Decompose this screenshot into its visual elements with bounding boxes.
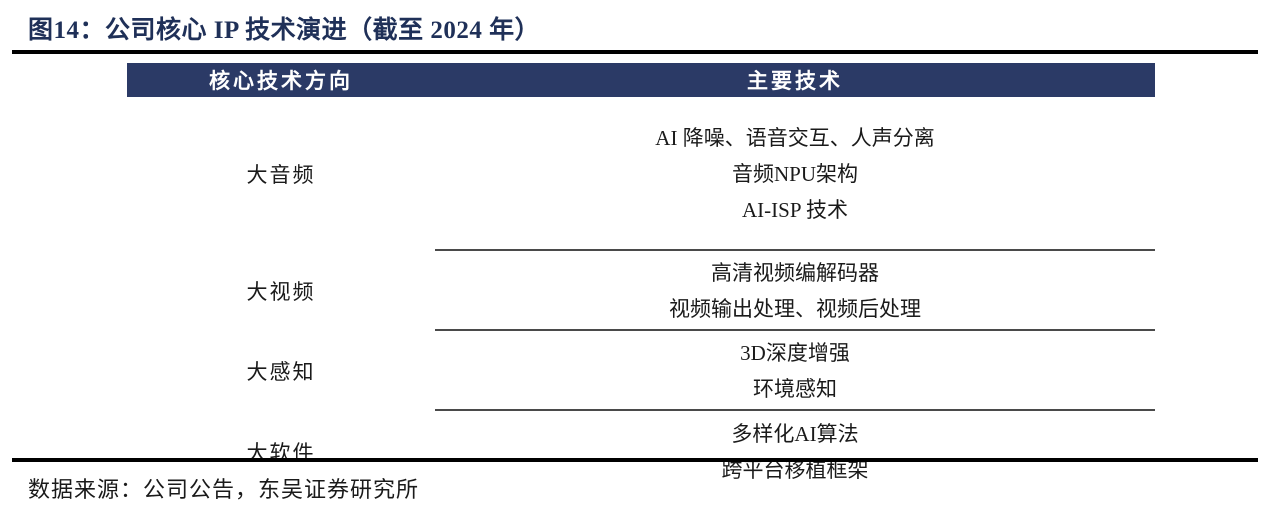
technology-item: 视频输出处理、视频后处理 xyxy=(669,291,921,327)
page-title: 图14：公司核心 IP 技术演进（截至 2024 年） xyxy=(28,10,540,46)
technology-item: 音频NPU架构 xyxy=(732,156,858,192)
column-header-direction: 核心技术方向 xyxy=(127,65,435,95)
technology-item: 高清视频编解码器 xyxy=(711,255,879,291)
technology-item: AI-ISP 技术 xyxy=(742,192,848,228)
row-technology-list: 3D深度增强 环境感知 xyxy=(435,335,1155,407)
top-divider-rule xyxy=(12,50,1258,54)
row-label-direction: 大视频 xyxy=(127,276,435,306)
technology-item: AI 降噪、语音交互、人声分离 xyxy=(655,120,934,156)
row-technology-list: AI 降噪、语音交互、人声分离 音频NPU架构 AI-ISP 技术 xyxy=(435,120,1155,228)
table-row: 大感知 3D深度增强 环境感知 xyxy=(127,331,1155,411)
table-header-row: 核心技术方向 主要技术 xyxy=(127,63,1155,97)
column-header-technology: 主要技术 xyxy=(435,65,1155,95)
technology-item: 多样化AI算法 xyxy=(731,416,858,452)
core-ip-technology-table: 核心技术方向 主要技术 大音频 AI 降噪、语音交互、人声分离 音频NPU架构 … xyxy=(127,63,1155,493)
row-label-direction: 大软件 xyxy=(127,437,435,467)
source-note: 数据来源：公司公告，东吴证券研究所 xyxy=(28,472,419,504)
row-label-direction: 大感知 xyxy=(127,356,435,386)
technology-item: 3D深度增强 xyxy=(740,335,850,371)
row-technology-list: 高清视频编解码器 视频输出处理、视频后处理 xyxy=(435,255,1155,327)
bottom-divider-rule xyxy=(12,458,1258,462)
technology-item: 环境感知 xyxy=(753,371,837,407)
table-row: 大音频 AI 降噪、语音交互、人声分离 音频NPU架构 AI-ISP 技术 xyxy=(127,97,1155,251)
row-label-direction: 大音频 xyxy=(127,159,435,189)
row-technology-list: 多样化AI算法 跨平台移植框架 xyxy=(435,416,1155,488)
table-row: 大视频 高清视频编解码器 视频输出处理、视频后处理 xyxy=(127,251,1155,331)
